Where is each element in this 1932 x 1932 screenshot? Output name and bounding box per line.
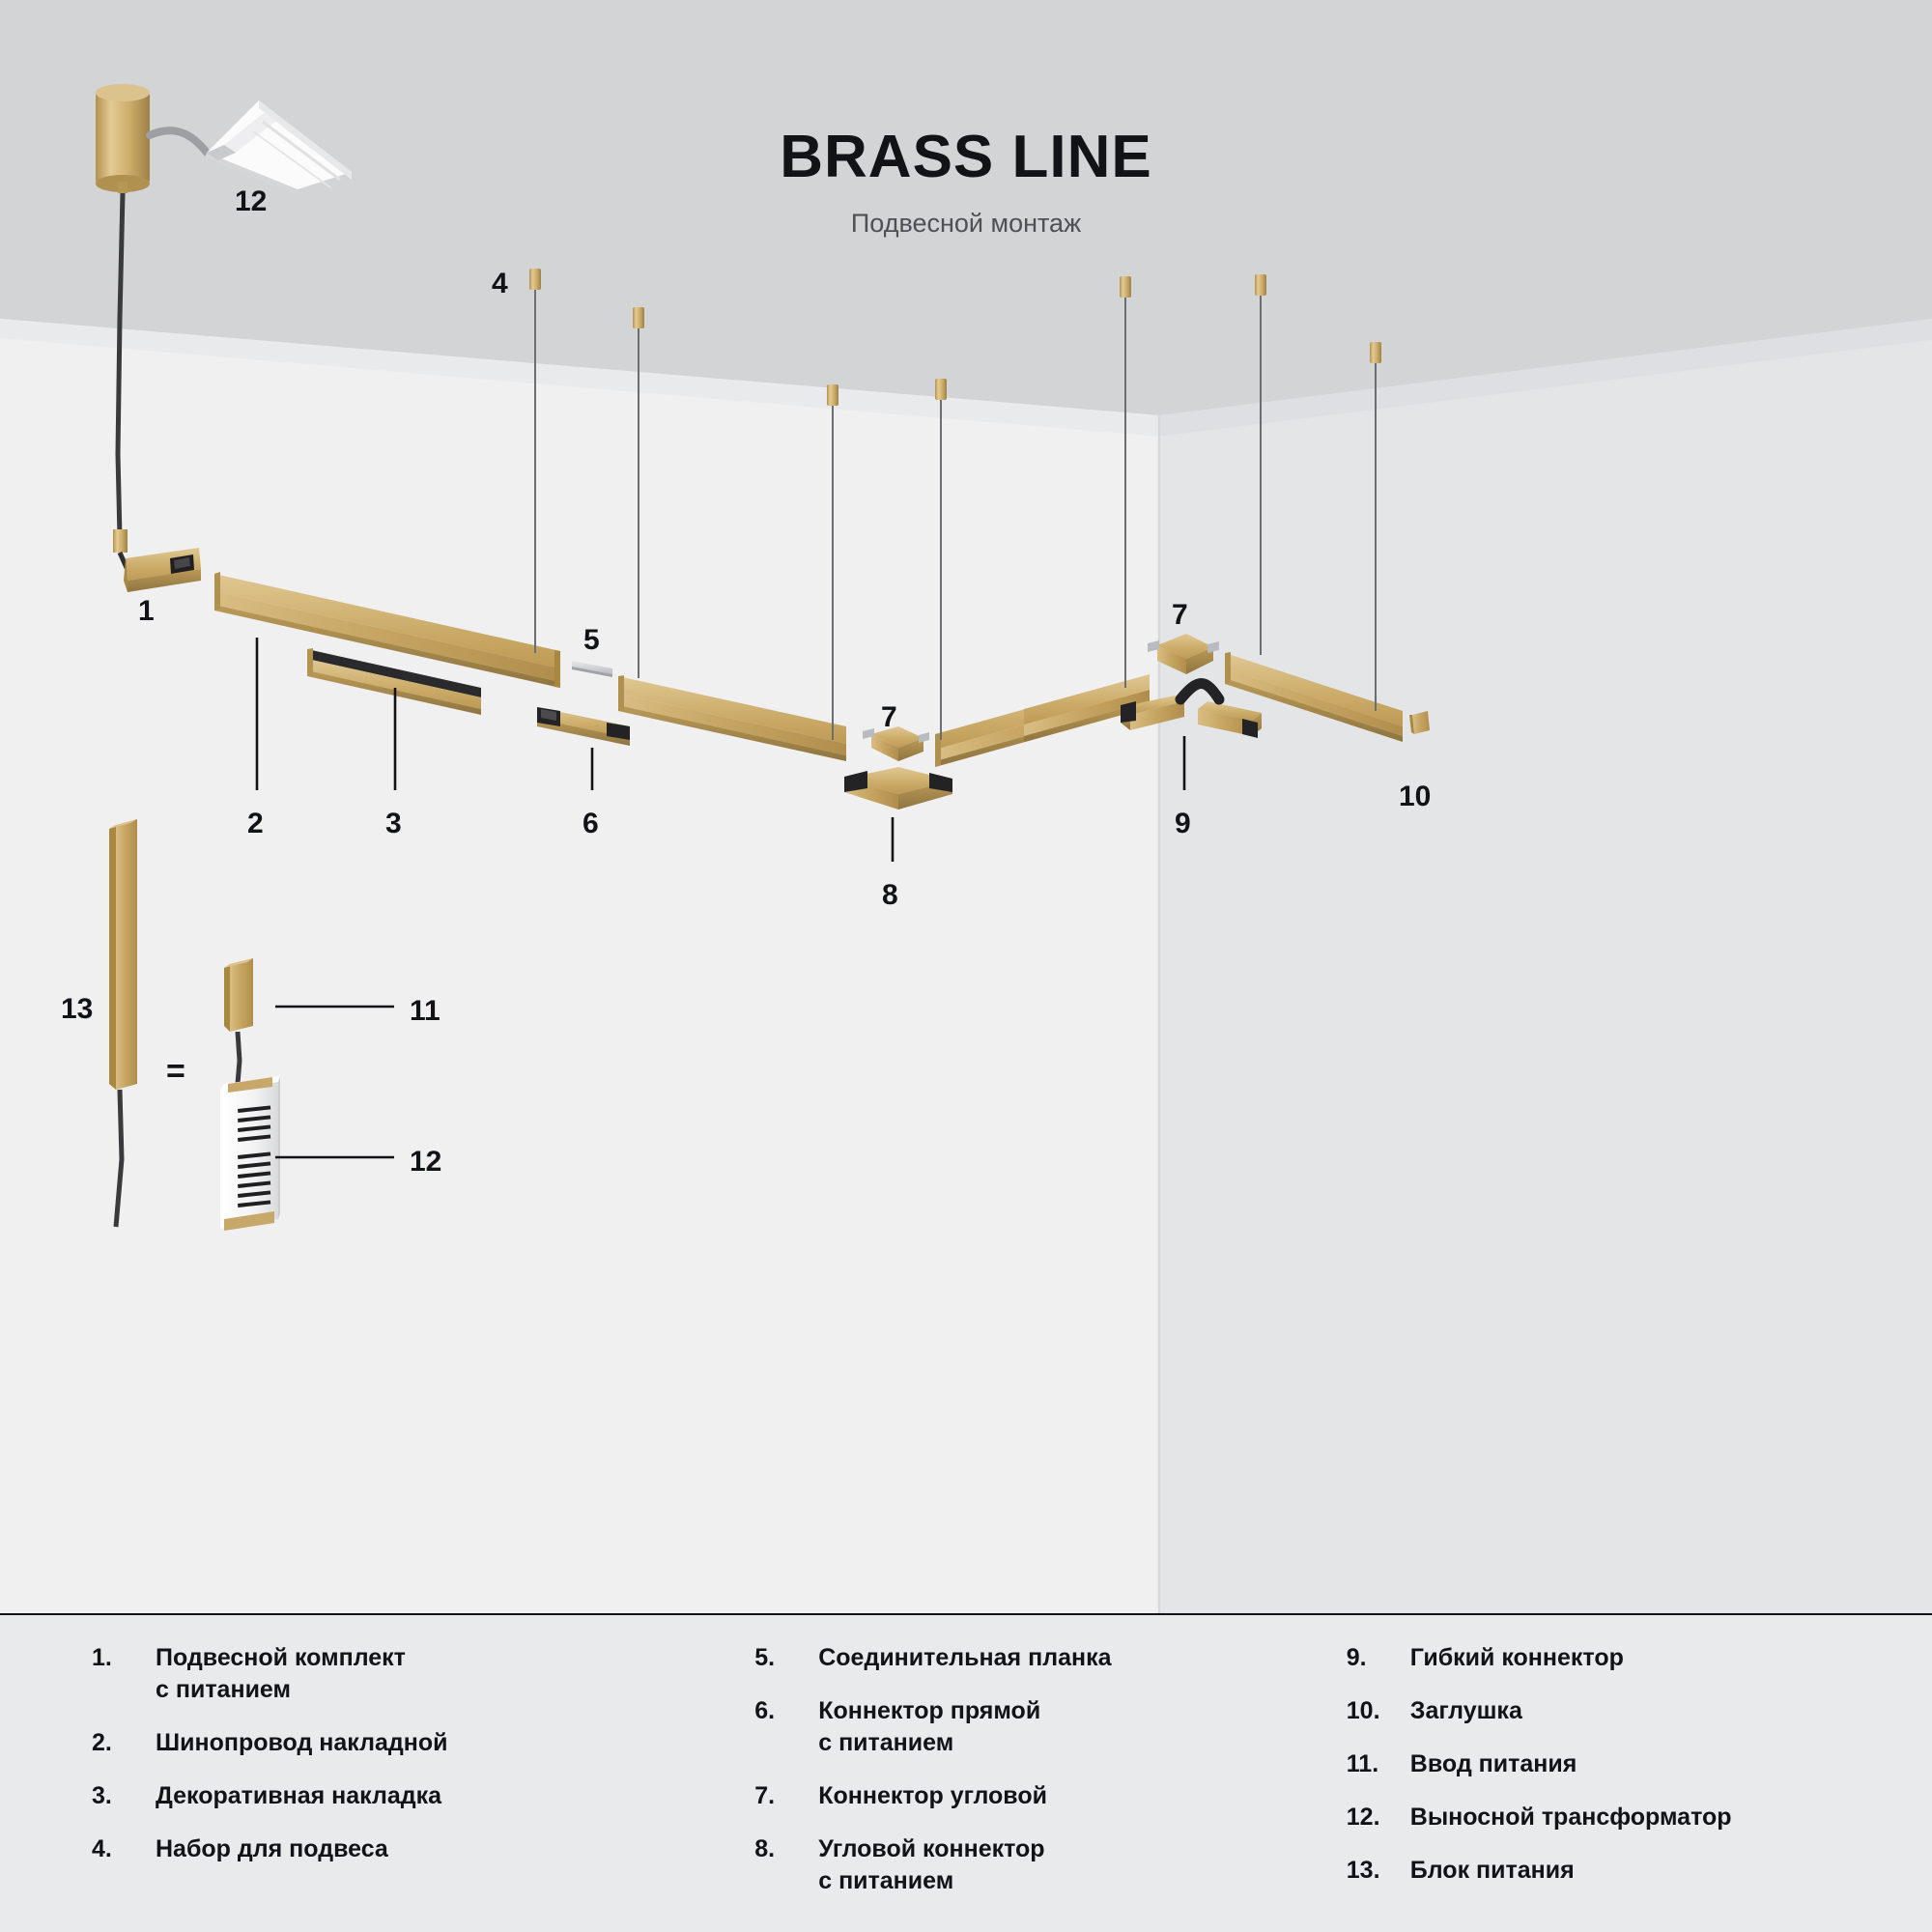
- legend-item-10: 10. Заглушка: [1347, 1695, 1932, 1727]
- callout-6: 6: [582, 810, 599, 838]
- legend-item-9: 9. Гибкий коннектор: [1347, 1642, 1932, 1674]
- legend-divider: [0, 1613, 1932, 1615]
- legend: 1. Подвесной комплект с питанием 2. Шино…: [0, 1642, 1932, 1932]
- part-12-remote-transformer: [220, 1076, 280, 1231]
- page-title: BRASS LINE: [0, 128, 1932, 187]
- legend-item-10-label: Заглушка: [1410, 1695, 1522, 1727]
- legend-column-3: 9. Гибкий коннектор 10. Заглушка 11. Вво…: [1306, 1642, 1932, 1932]
- legend-item-12: 12. Выносной трансформатор: [1347, 1802, 1932, 1833]
- legend-item-8-label: Угловой коннектор с питанием: [818, 1833, 1044, 1897]
- legend-item-4-label: Набор для подвеса: [156, 1833, 388, 1865]
- callout-4: 4: [492, 270, 508, 298]
- legend-item-12-label: Выносной трансформатор: [1410, 1802, 1732, 1833]
- legend-item-2-label: Шинопровод накладной: [156, 1727, 448, 1759]
- legend-column-2: 5. Соединительная планка 6. Коннектор пр…: [677, 1642, 1306, 1932]
- legend-item-6-label: Коннектор прямой с питанием: [818, 1695, 1040, 1759]
- legend-item-1-number: 1.: [92, 1642, 156, 1706]
- legend-item-7: 7. Коннектор угловой: [754, 1780, 1306, 1812]
- legend-item-3: 3. Декоративная накладка: [92, 1780, 677, 1812]
- legend-item-13-number: 13.: [1347, 1855, 1410, 1887]
- callout-9: 9: [1175, 810, 1191, 838]
- callout-10: 10: [1399, 782, 1431, 811]
- legend-item-3-label: Декоративная накладка: [156, 1780, 441, 1812]
- legend-item-11-number: 11.: [1347, 1748, 1410, 1780]
- title-block: BRASS LINE Подвесной монтаж: [0, 128, 1932, 239]
- legend-column-1: 1. Подвесной комплект с питанием 2. Шино…: [0, 1642, 677, 1932]
- callout-11: 11: [410, 997, 440, 1026]
- legend-item-5-number: 5.: [754, 1642, 818, 1674]
- legend-item-8-number: 8.: [754, 1833, 818, 1897]
- legend-item-3-number: 3.: [92, 1780, 156, 1812]
- callout-7-left: 7: [881, 703, 897, 732]
- legend-item-8: 8. Угловой коннектор с питанием: [754, 1833, 1306, 1897]
- callout-1: 1: [138, 597, 155, 626]
- legend-item-5: 5. Соединительная планка: [754, 1642, 1306, 1674]
- legend-item-7-number: 7.: [754, 1780, 818, 1812]
- legend-item-11: 11. Ввод питания: [1347, 1748, 1932, 1780]
- callout-5: 5: [583, 626, 600, 655]
- equals-sign: =: [166, 1053, 185, 1091]
- legend-item-4-number: 4.: [92, 1833, 156, 1865]
- legend-item-13: 13. Блок питания: [1347, 1855, 1932, 1887]
- legend-item-10-number: 10.: [1347, 1695, 1410, 1727]
- callout-2: 2: [247, 810, 264, 838]
- callout-12-lower: 12: [410, 1148, 441, 1177]
- diagram-page: BRASS LINE Подвесной монтаж 1 2 3 4 5 6 …: [0, 0, 1932, 1932]
- legend-item-13-label: Блок питания: [1410, 1855, 1575, 1887]
- legend-item-6-number: 6.: [754, 1695, 818, 1759]
- legend-item-5-label: Соединительная планка: [818, 1642, 1111, 1674]
- room-background: [0, 0, 1932, 1613]
- legend-item-9-label: Гибкий коннектор: [1410, 1642, 1624, 1674]
- product-scene: BRASS LINE Подвесной монтаж 1 2 3 4 5 6 …: [0, 0, 1932, 1613]
- legend-item-4: 4. Набор для подвеса: [92, 1833, 677, 1865]
- page-subtitle: Подвесной монтаж: [0, 209, 1932, 239]
- callout-8: 8: [882, 881, 898, 910]
- callout-13: 13: [61, 995, 93, 1024]
- callout-12-upper: 12: [235, 187, 267, 216]
- legend-item-7-label: Коннектор угловой: [818, 1780, 1047, 1812]
- legend-item-9-number: 9.: [1347, 1642, 1410, 1674]
- callout-3: 3: [385, 810, 402, 838]
- legend-item-2-number: 2.: [92, 1727, 156, 1759]
- legend-item-12-number: 12.: [1347, 1802, 1410, 1833]
- legend-item-11-label: Ввод питания: [1410, 1748, 1577, 1780]
- legend-item-1: 1. Подвесной комплект с питанием: [92, 1642, 677, 1706]
- scene-illustration: [0, 0, 1932, 1613]
- legend-item-6: 6. Коннектор прямой с питанием: [754, 1695, 1306, 1759]
- callout-7-right: 7: [1172, 601, 1188, 630]
- legend-item-1-label: Подвесной комплект с питанием: [156, 1642, 406, 1706]
- legend-item-2: 2. Шинопровод накладной: [92, 1727, 677, 1759]
